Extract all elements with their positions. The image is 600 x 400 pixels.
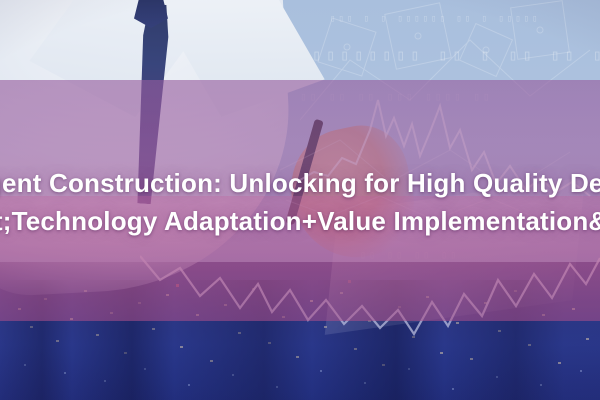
banner-image: ▯▯▯ ▯ ▯ ▯▯▯▯▯▯ ▯▯ ▯ ▯▯▯▯▯ ▯▯▯▯▯▯▯▯ ▯▯ ▯ … (0, 0, 600, 400)
page-title: 聚盈策略 Intelligent Construction: Unlocking… (0, 164, 600, 240)
headline-container: 聚盈策略 Intelligent Construction: Unlocking… (0, 164, 600, 284)
